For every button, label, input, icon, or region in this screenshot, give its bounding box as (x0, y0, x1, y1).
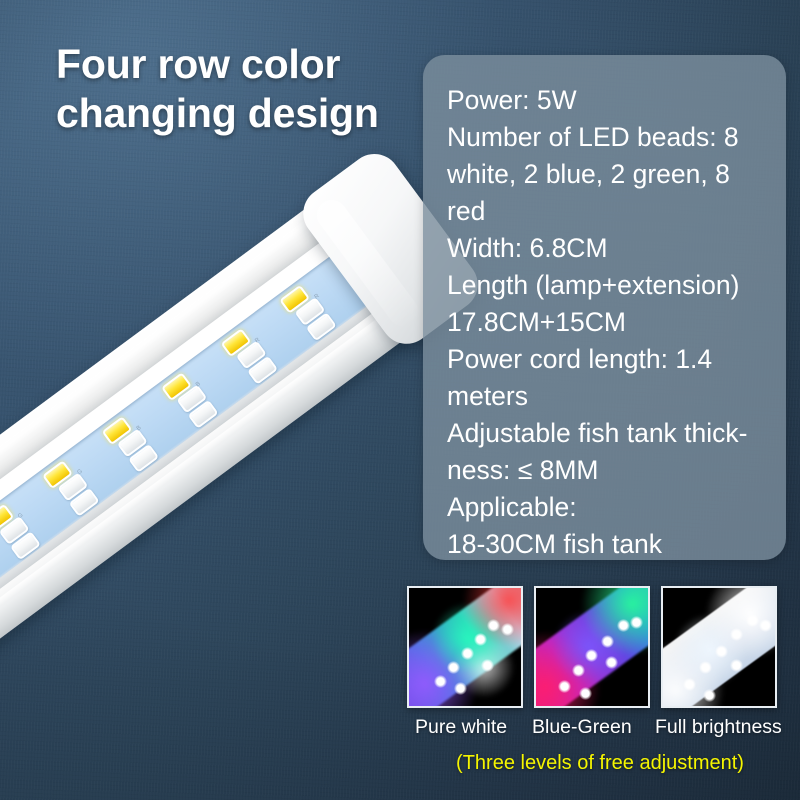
spec-line: white, 2 blue, 2 green, 8 (447, 156, 776, 193)
thumbnail-blue-green[interactable] (534, 586, 650, 708)
thumbnail-led-dot (572, 664, 585, 677)
spec-line: Number of LED beads: 8 (447, 119, 776, 156)
thumbnail-led-dot (746, 614, 759, 627)
thumbnail-led-dot (730, 659, 743, 672)
spec-line: Adjustable fish tank thick- (447, 415, 776, 452)
thumbnail-led-dot (474, 633, 487, 646)
mode-caption: Full brightness (655, 716, 782, 739)
page-title: Four row color changing design (56, 40, 436, 138)
page-title-line-1: Four row color (56, 40, 436, 89)
thumbnail-led-dot (715, 645, 728, 658)
spec-line: ness: ≤ 8MM (447, 452, 776, 489)
spec-line: Power cord length: 1.4 (447, 341, 776, 378)
mode-caption-row: Pure white Blue-Green Full brightness (400, 716, 796, 746)
thumbnail-led-dot (579, 687, 592, 700)
specification-panel: Power: 5W Number of LED beads: 8 white, … (423, 55, 786, 560)
spec-line: 18-30CM fish tank (447, 526, 776, 563)
spec-line: Width: 6.8CM (447, 230, 776, 267)
thumbnail-pure-white[interactable] (407, 586, 523, 708)
thumbnail-led-dot (759, 619, 772, 632)
thumbnail-full-brightness[interactable] (661, 586, 777, 708)
thumbnail-led-dot (461, 647, 474, 660)
product-infographic: Four row color changing design Power: 5W… (0, 0, 800, 800)
thumbnail-led-dot (699, 661, 712, 674)
spec-line: red (447, 193, 776, 230)
mode-caption: Blue-Green (532, 716, 632, 739)
spec-line: Length (lamp+extension) (447, 267, 776, 304)
page-title-line-2: changing design (56, 89, 436, 138)
spec-line: Power: 5W (447, 82, 776, 119)
thumbnail-glow (534, 586, 650, 708)
spec-line: meters (447, 378, 776, 415)
thumbnail-led-dot (481, 659, 494, 672)
thumbnail-led-dot (487, 619, 500, 632)
spec-line: Applicable: (447, 489, 776, 526)
thumbnail-led-dot (434, 675, 447, 688)
thumbnail-led-dot (617, 619, 630, 632)
thumbnail-led-dot (683, 678, 696, 691)
spec-line: 17.8CM+15CM (447, 304, 776, 341)
mode-caption: Pure white (415, 716, 507, 739)
adjustment-footnote: (Three levels of free adjustment) (400, 752, 800, 775)
specification-list: Power: 5W Number of LED beads: 8 white, … (447, 82, 776, 563)
mode-thumbnail-row (407, 586, 789, 708)
